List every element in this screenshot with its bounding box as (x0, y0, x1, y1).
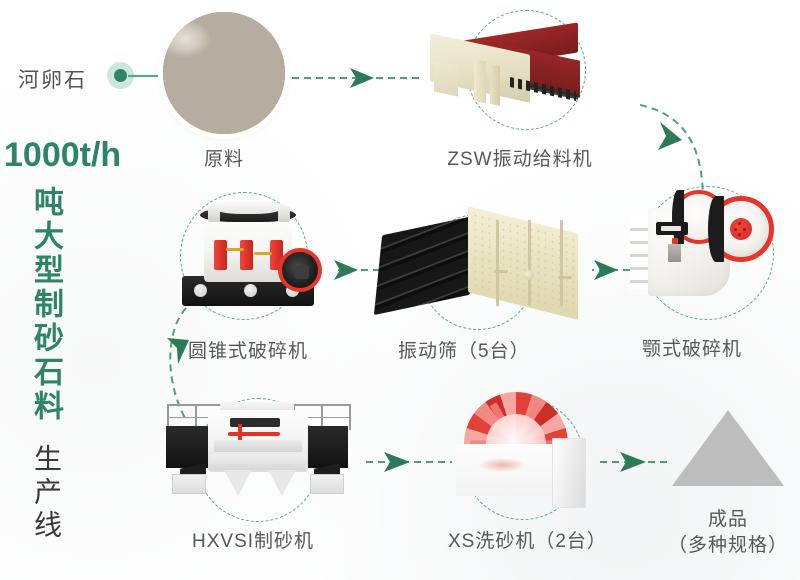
capacity-value: 1000t/h (4, 136, 121, 175)
cone-crusher-icon[interactable] (178, 190, 328, 315)
label-finished-product-line1: 成品 (660, 508, 796, 532)
label-jaw-crusher: 颚式破碎机 (642, 338, 742, 362)
label-raw-material: 原料 (163, 148, 285, 172)
label-vibrating-screen: 振动筛（5台） (398, 340, 530, 364)
label-cone-crusher: 圆锥式破碎机 (188, 340, 308, 364)
headline-vertical-dark: 生产线 (32, 444, 60, 543)
river-pebbles-photo (163, 12, 285, 134)
label-finished-product-line2: （多种规格） (660, 534, 796, 558)
vibrating-screen-icon[interactable] (378, 218, 583, 318)
flowchart-canvas: 河卵石 1000t/h 吨大型制砂石料 生产线 (0, 0, 800, 580)
vsi-sand-maker-icon[interactable] (166, 396, 352, 506)
source-node-dot (107, 62, 134, 89)
source-material-label: 河卵石 (18, 64, 87, 94)
zsw-vibrating-feeder-icon[interactable] (430, 18, 590, 118)
wheel-sand-washer-icon[interactable] (456, 392, 596, 512)
jaw-crusher-icon[interactable] (630, 176, 790, 316)
headline-vertical-green: 吨大型制砂石料 (30, 186, 60, 424)
finished-product-icon[interactable] (672, 410, 784, 490)
label-xs-sand-washer: XS洗砂机（2台） (448, 530, 607, 554)
aggregate-pile (672, 410, 784, 486)
label-vsi-sand-maker: HXVSI制砂机 (192, 530, 314, 554)
label-zsw-feeder: ZSW振动给料机 (420, 148, 620, 172)
